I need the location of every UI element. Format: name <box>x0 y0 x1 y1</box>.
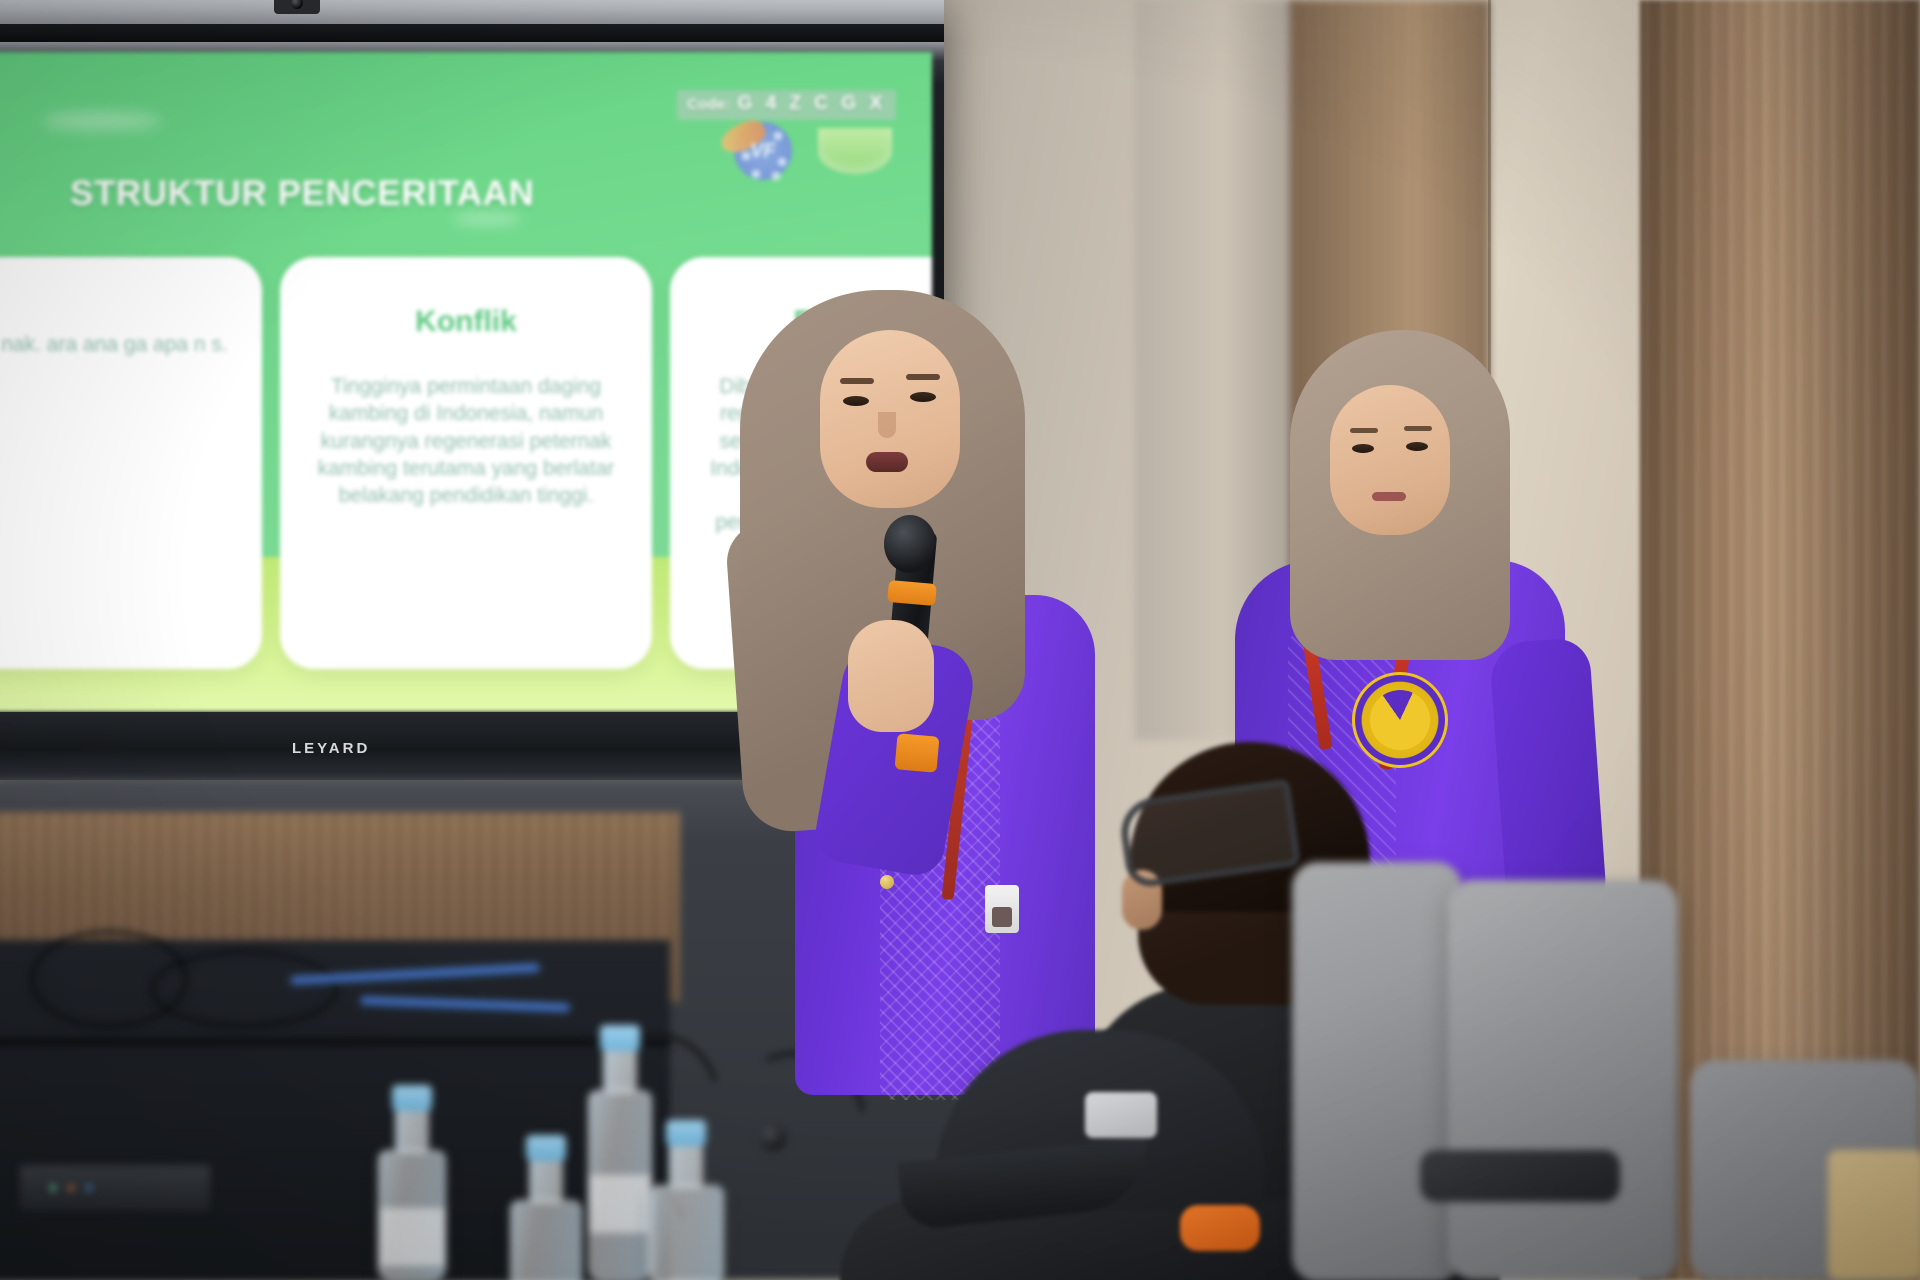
screen-glare <box>42 112 162 130</box>
bottle-neck <box>395 1107 429 1153</box>
microphone-accent-ring <box>887 580 937 606</box>
slide-title: STRUKTUR PENCERITAAN <box>70 174 534 214</box>
water-bottle[interactable] <box>378 1150 446 1280</box>
slide-logo-group: VF <box>734 122 892 180</box>
bottle-neck <box>669 1142 703 1188</box>
presenter2-face <box>1330 385 1450 535</box>
presenter1-id-badge <box>985 885 1019 933</box>
display-bezel-band <box>0 24 944 42</box>
water-bottle[interactable] <box>648 1185 724 1280</box>
session-code-chip: Code: G 4 Z C G X <box>677 90 896 120</box>
bottle-label <box>589 1175 651 1233</box>
presenter1-button <box>880 875 894 889</box>
slide-card-heading: Konflik <box>314 305 618 339</box>
vf-circle-logo: VF <box>734 122 792 180</box>
session-code-value: G 4 Z C G X <box>737 93 886 115</box>
water-bottle[interactable] <box>588 1090 652 1280</box>
bottle-neck <box>603 1047 637 1093</box>
water-bottle[interactable] <box>510 1200 582 1280</box>
rack-led-icon <box>86 1185 92 1191</box>
presenter1-nose <box>878 412 896 438</box>
presenter1-eye <box>843 396 869 406</box>
audience2-orange-accent <box>1180 1205 1260 1251</box>
cable <box>150 950 338 1028</box>
presenter1-eyebrow <box>906 374 940 380</box>
presenter2-mouth <box>1372 492 1406 501</box>
cabinet-shelf <box>0 1038 670 1046</box>
bottle-cap <box>526 1135 566 1161</box>
slide-card-body: Tingginya permintaan daging kambing di I… <box>314 373 618 509</box>
rack-led-icon <box>68 1185 74 1191</box>
institution-emblem-icon <box>1352 672 1448 768</box>
presenter1-eyebrow <box>840 378 874 384</box>
screen-glare-secondary <box>452 212 522 226</box>
vf-logo-text: VF <box>734 122 792 180</box>
office-chair[interactable] <box>1448 880 1678 1280</box>
office-chair[interactable] <box>1292 862 1462 1280</box>
cap-logo-icon <box>1085 1092 1157 1138</box>
bottle-label <box>379 1208 445 1266</box>
microphone-head-icon <box>884 515 936 573</box>
presenter1-mouth <box>866 452 908 472</box>
slide-card-konflik: Konflik Tingginya permintaan daging kamb… <box>280 257 652 669</box>
presenter1-hand <box>848 620 934 732</box>
presenter1-eye <box>910 392 936 402</box>
bottle-cap <box>392 1085 432 1111</box>
presenter2-eyebrow <box>1404 426 1432 431</box>
microphone-accent-ring <box>895 733 940 773</box>
bottle-cap <box>600 1025 640 1051</box>
session-code-label: Code: <box>687 96 731 113</box>
presenter2-eye <box>1406 442 1428 451</box>
rack-led-icon <box>50 1185 56 1191</box>
emblem-inner-shape <box>1370 690 1430 750</box>
screenshot-root: Code: G 4 Z C G X VF STRUKTUR PENCERITAA… <box>0 0 1920 1280</box>
display-brand-label: LEYARD <box>292 740 370 757</box>
slide-card-body: ng liki n nak. ara ana ga apa n s. <box>0 331 228 358</box>
presenter2-eye <box>1352 444 1374 453</box>
presenter2-eyebrow <box>1350 428 1378 433</box>
bottle-cap <box>666 1120 706 1146</box>
chair-armrest[interactable] <box>1420 1150 1620 1202</box>
bag[interactable] <box>1828 1150 1920 1280</box>
display-bezel-top <box>0 0 944 24</box>
microphone-head-icon <box>760 1125 786 1151</box>
leaf-logo-icon <box>818 128 892 174</box>
bottle-neck <box>529 1157 563 1203</box>
slide-card-orientasi: ng liki n nak. ara ana ga apa n s. <box>0 257 262 669</box>
av-rack-unit[interactable] <box>20 1165 210 1211</box>
presenter2-arm <box>1489 637 1608 913</box>
